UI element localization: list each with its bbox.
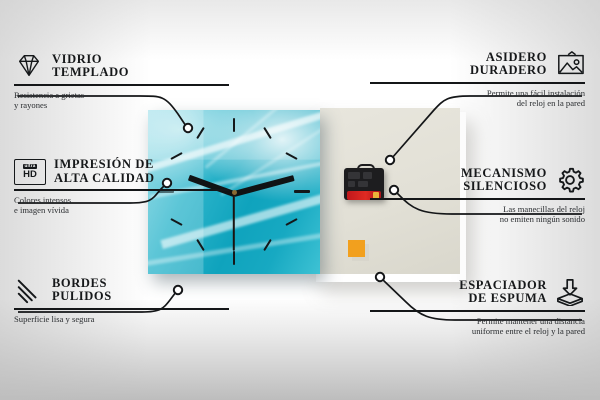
foam-spacer-arrow-icon xyxy=(555,278,585,306)
clock-tick-12 xyxy=(233,118,235,132)
mechanism-detail xyxy=(358,181,368,187)
clock-tick-6 xyxy=(233,251,235,265)
feature-vidrio-templado: VIDRIO TEMPLADO Resistencia a grietas y … xyxy=(14,52,229,111)
clock-second-hand xyxy=(233,193,235,251)
feature-title: IMPRESIÓN DE ALTA CALIDAD xyxy=(54,158,155,185)
feature-divider xyxy=(14,84,229,86)
feature-divider xyxy=(370,310,585,312)
feature-description: Permite mantener una distancia uniforme … xyxy=(370,316,585,337)
infographic-canvas: VIDRIO TEMPLADO Resistencia a grietas y … xyxy=(0,0,600,400)
clock-tick-3 xyxy=(294,190,310,193)
feature-divider xyxy=(370,198,585,200)
feature-title: MECANISMO SILENCIOSO xyxy=(461,167,547,194)
feature-mecanismo-silencioso: MECANISMO SILENCIOSO Las manecillas del … xyxy=(370,166,585,225)
mechanism-detail xyxy=(348,172,360,179)
feature-title: VIDRIO TEMPLADO xyxy=(52,53,129,80)
feature-description: Superficie lisa y segura xyxy=(14,314,229,325)
feature-title: ASIDERO DURADERO xyxy=(470,51,547,78)
feature-divider xyxy=(14,308,229,310)
feature-description: Las manecillas del reloj no emiten ningú… xyxy=(370,204,585,225)
gear-icon xyxy=(555,166,585,194)
picture-frame-hanger-icon xyxy=(555,50,585,78)
feature-bordes-pulidos: BORDES PULIDOS Superficie lisa y segura xyxy=(14,276,229,324)
feature-description: Resistencia a grietas y rayones xyxy=(14,90,229,111)
polished-edges-icon xyxy=(14,276,44,304)
feature-asidero-duradero: ASIDERO DURADERO Permite una fácil insta… xyxy=(370,50,585,109)
clock-center-hub xyxy=(232,190,237,195)
foam-spacer-sample xyxy=(348,240,365,257)
feature-title: BORDES PULIDOS xyxy=(52,277,112,304)
diamond-icon xyxy=(14,52,44,80)
feature-title: ESPACIADOR DE ESPUMA xyxy=(459,279,547,306)
ultra-hd-icon: ultra HD xyxy=(14,159,46,185)
mechanism-detail xyxy=(348,181,355,187)
feature-espaciador-de-espuma: ESPACIADOR DE ESPUMA Permite mantener un… xyxy=(370,278,585,337)
feature-description: Colores intensos e imagen vívida xyxy=(14,195,229,216)
feature-divider xyxy=(14,189,229,191)
feature-description: Permite una fácil instalación del reloj … xyxy=(370,88,585,109)
feature-impresion-alta-calidad: ultra HD IMPRESIÓN DE ALTA CALIDAD Color… xyxy=(14,158,229,216)
feature-divider xyxy=(370,82,585,84)
